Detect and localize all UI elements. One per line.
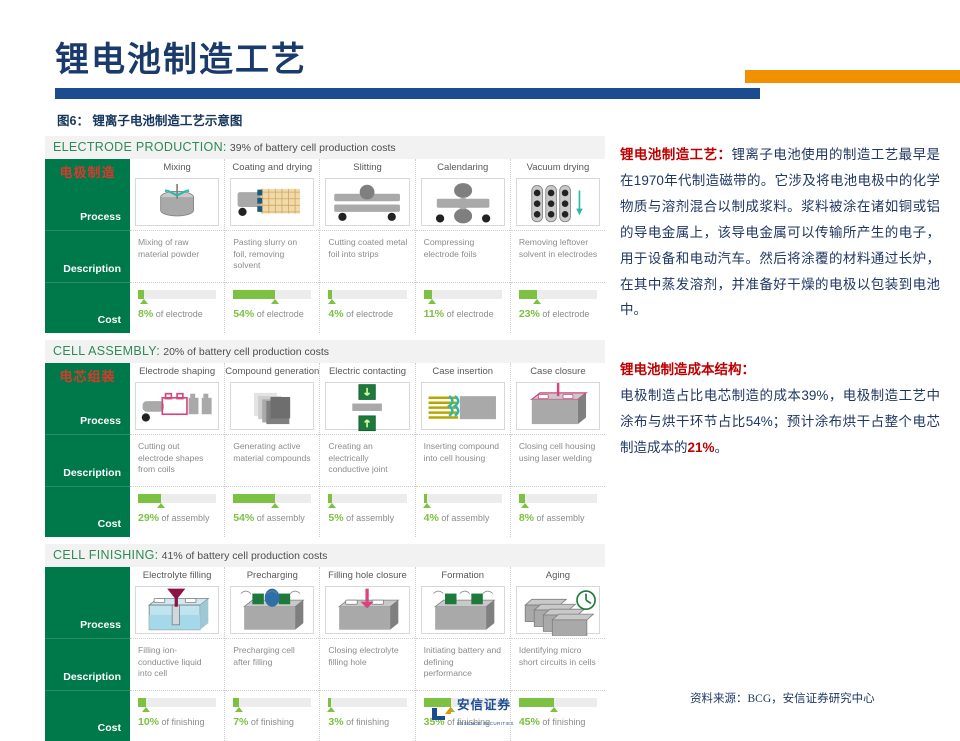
steps-grid: Electrode shaping Cutting out electrode … xyxy=(130,363,605,537)
commentary-paragraph-2: 电极制造占比电芯制造的成本39%，电极制造工艺中涂布与烘干环节占比54%；预计涂… xyxy=(620,383,940,461)
section-cost-note: 39% of battery cell production costs xyxy=(230,142,396,154)
stacked-sheets-icon xyxy=(230,382,314,430)
step-illustration xyxy=(416,176,510,231)
cost-label: 54% of assembly xyxy=(233,512,311,524)
process-diagram: ELECTRODE PRODUCTION: 39% of battery cel… xyxy=(45,136,605,696)
header-orange-rule xyxy=(745,70,960,83)
process-step-column: Coating and drying Pasting slurry on foi… xyxy=(225,159,320,333)
cost-bar xyxy=(233,698,311,707)
section-header: ELECTRODE PRODUCTION: 39% of battery cel… xyxy=(45,136,605,159)
section-cn-stamp: 电芯组装 xyxy=(45,366,130,385)
cost-label: 8% of electrode xyxy=(138,308,216,320)
step-cost: 45% of finishing xyxy=(511,691,605,741)
step-description: Inserting compound into cell housing xyxy=(416,435,510,487)
step-title: Aging xyxy=(511,567,605,584)
commentary-heading-1: 锂电池制造工艺： xyxy=(620,147,731,162)
step-title: Coating and drying xyxy=(225,159,319,176)
section-name: CELL FINISHING: xyxy=(53,548,158,562)
step-illustration xyxy=(416,584,510,639)
step-description: Removing leftover solvent in electrodes xyxy=(511,231,605,283)
cost-bar xyxy=(233,494,311,503)
step-cost: 4% of assembly xyxy=(416,487,510,537)
step-cost: 11% of electrode xyxy=(416,283,510,333)
step-description: Precharging cell after filling xyxy=(225,639,319,691)
source-note: 资料来源：BCG，安信证券研究中心 xyxy=(690,690,875,706)
process-step-column: Electrolyte filling Filling ion-conducti… xyxy=(130,567,225,741)
cost-label: 23% of electrode xyxy=(519,308,597,320)
row-label-process: Process xyxy=(45,567,130,639)
cost-label: 29% of assembly xyxy=(138,512,216,524)
process-step-column: Precharging Precharging cell after filli… xyxy=(225,567,320,741)
row-label-description: Description xyxy=(45,231,130,283)
cost-label: 54% of electrode xyxy=(233,308,311,320)
step-cost: 54% of assembly xyxy=(225,487,319,537)
steps-grid: Mixing Mixing of raw material powder 8% … xyxy=(130,159,605,333)
step-description: Filling ion-conductive liquid into cell xyxy=(130,639,224,691)
step-description: Compressing electrode foils xyxy=(416,231,510,283)
cost-label: 11% of electrode xyxy=(424,308,502,320)
step-description: Mixing of raw material powder xyxy=(130,231,224,283)
calendar-press-icon xyxy=(421,178,505,226)
step-cost: 10% of finishing xyxy=(130,691,224,741)
step-description: Generating active material compounds xyxy=(225,435,319,487)
step-description: Closing cell housing using laser welding xyxy=(511,435,605,487)
cost-bar xyxy=(138,494,216,503)
slitting-machine-icon xyxy=(325,178,409,226)
step-illustration xyxy=(511,380,605,435)
row-label-description: Description xyxy=(45,639,130,691)
cost-label: 5% of assembly xyxy=(328,512,406,524)
step-cost: 8% of assembly xyxy=(511,487,605,537)
cost-bar xyxy=(519,494,597,503)
commentary-spacer xyxy=(620,323,940,357)
figure-caption: 图6： 锂离子电池制造工艺示意图 xyxy=(57,110,242,129)
commentary-paragraph-1: 锂电池制造工艺：锂离子电池使用的制造工艺最早是在1970年代制造磁带的。它涉及将… xyxy=(620,142,940,323)
logo-name-en: ESSENCE SECURITIES xyxy=(457,721,514,726)
step-cost: 4% of electrode xyxy=(320,283,414,333)
step-illustration xyxy=(130,176,224,231)
step-illustration xyxy=(130,380,224,435)
cost-label: 8% of assembly xyxy=(519,512,597,524)
step-title: Compound generation xyxy=(225,363,319,380)
step-description: Pasting slurry on foil, removing solvent xyxy=(225,231,319,283)
step-title: Calendaring xyxy=(416,159,510,176)
process-step-column: Case insertion Inserting compound into c… xyxy=(416,363,511,537)
step-cost: 7% of finishing xyxy=(225,691,319,741)
electric-contact-icon xyxy=(325,382,409,430)
process-step-column: Vacuum drying Removing leftover solvent … xyxy=(511,159,605,333)
section-cost-note: 20% of battery cell production costs xyxy=(163,346,329,358)
process-step-column: Mixing Mixing of raw material powder 8% … xyxy=(130,159,225,333)
step-title: Case insertion xyxy=(416,363,510,380)
step-title: Electrode shaping xyxy=(130,363,224,380)
formation-icon xyxy=(421,586,505,634)
step-cost: 8% of electrode xyxy=(130,283,224,333)
step-description: Closing electrolyte filling hole xyxy=(320,639,414,691)
precharging-icon xyxy=(230,586,314,634)
step-description: Creating an electrically conductive join… xyxy=(320,435,414,487)
row-label-cost: Cost xyxy=(45,691,130,741)
mixer-icon xyxy=(135,178,219,226)
cost-label: 10% of finishing xyxy=(138,716,216,728)
process-step-column: Electric contacting Creating an electric… xyxy=(320,363,415,537)
step-illustration xyxy=(225,176,319,231)
cost-label: 4% of assembly xyxy=(424,512,502,524)
row-label-description: Description xyxy=(45,435,130,487)
vacuum-dryer-icon xyxy=(516,178,600,226)
hole-closure-icon xyxy=(325,586,409,634)
step-title: Electrolyte filling xyxy=(130,567,224,584)
section-name: ELECTRODE PRODUCTION: xyxy=(53,140,227,154)
diagram-section: ELECTRODE PRODUCTION: 39% of battery cel… xyxy=(45,136,605,333)
process-step-column: Electrode shaping Cutting out electrode … xyxy=(130,363,225,537)
section-header: CELL FINISHING: 41% of battery cell prod… xyxy=(45,544,605,567)
cost-bar xyxy=(328,698,406,707)
process-step-column: Aging Identifying micro short circuits i… xyxy=(511,567,605,741)
section-header: CELL ASSEMBLY: 20% of battery cell produ… xyxy=(45,340,605,363)
step-description: Cutting coated metal foil into strips xyxy=(320,231,414,283)
step-cost: 54% of electrode xyxy=(225,283,319,333)
laser-welding-icon xyxy=(516,382,600,430)
step-title: Mixing xyxy=(130,159,224,176)
row-label-cost: Cost xyxy=(45,283,130,333)
commentary-body-1: 锂离子电池使用的制造工艺最早是在1970年代制造磁带的。它涉及将电池电极中的化学… xyxy=(620,147,940,317)
cost-bar xyxy=(233,290,311,299)
electrolyte-filling-icon xyxy=(135,586,219,634)
page-title: 锂电池制造工艺 xyxy=(55,32,307,81)
step-title: Electric contacting xyxy=(320,363,414,380)
step-illustration xyxy=(320,380,414,435)
step-illustration xyxy=(511,176,605,231)
company-logo: 安信证券 ESSENCE SECURITIES xyxy=(432,697,514,729)
cost-label: 7% of finishing xyxy=(233,716,311,728)
process-step-column: Slitting Cutting coated metal foil into … xyxy=(320,159,415,333)
commentary-heading-2: 锂电池制造成本结构： xyxy=(620,362,755,377)
step-title: Formation xyxy=(416,567,510,584)
step-illustration xyxy=(130,584,224,639)
cost-label: 3% of finishing xyxy=(328,716,406,728)
process-step-column: Compound generation Generating active ma… xyxy=(225,363,320,537)
case-insertion-icon xyxy=(421,382,505,430)
coating-roller-icon xyxy=(230,178,314,226)
step-description: Initiating battery and defining performa… xyxy=(416,639,510,691)
step-cost: 5% of assembly xyxy=(320,487,414,537)
commentary-body-2b: 。 xyxy=(715,440,729,455)
header-blue-rule xyxy=(55,88,760,99)
commentary-panel: 锂电池制造工艺：锂离子电池使用的制造工艺最早是在1970年代制造磁带的。它涉及将… xyxy=(620,142,940,461)
step-title: Slitting xyxy=(320,159,414,176)
step-cost: 23% of electrode xyxy=(511,283,605,333)
row-label-cost: Cost xyxy=(45,487,130,537)
step-title: Vacuum drying xyxy=(511,159,605,176)
process-step-column: Filling hole closure Closing electrolyte… xyxy=(320,567,415,741)
cost-label: 4% of electrode xyxy=(328,308,406,320)
process-step-column: Calendaring Compressing electrode foils … xyxy=(416,159,511,333)
cost-bar xyxy=(138,290,216,299)
step-illustration xyxy=(225,380,319,435)
electrode-shaping-icon xyxy=(135,382,219,430)
cost-bar xyxy=(424,290,502,299)
step-title: Case closure xyxy=(511,363,605,380)
steps-grid: Electrolyte filling Filling ion-conducti… xyxy=(130,567,605,741)
commentary-highlight: 21% xyxy=(688,440,715,455)
cost-bar xyxy=(519,290,597,299)
essence-logo-mark xyxy=(432,706,452,721)
step-description: Cutting out electrode shapes from coils xyxy=(130,435,224,487)
step-description: Identifying micro short circuits in cell… xyxy=(511,639,605,691)
step-cost: 3% of finishing xyxy=(320,691,414,741)
cost-bar xyxy=(328,494,406,503)
commentary-body-2a: 电极制造占比电芯制造的成本39%，电极制造工艺中涂布与烘干环节占比54%；预计涂… xyxy=(620,388,940,455)
step-title: Filling hole closure xyxy=(320,567,414,584)
step-title: Precharging xyxy=(225,567,319,584)
section-cn-stamp: 电极制造 xyxy=(45,162,130,181)
step-illustration xyxy=(320,584,414,639)
section-name: CELL ASSEMBLY: xyxy=(53,344,160,358)
step-cost: 29% of assembly xyxy=(130,487,224,537)
step-illustration xyxy=(320,176,414,231)
process-step-column: Case closure Closing cell housing using … xyxy=(511,363,605,537)
aging-icon xyxy=(516,586,600,634)
diagram-section: CELL FINISHING: 41% of battery cell prod… xyxy=(45,544,605,741)
cost-bar xyxy=(519,698,597,707)
logo-name-cn: 安信证券 xyxy=(457,698,511,712)
commentary-heading-2-row: 锂电池制造成本结构： xyxy=(620,357,940,383)
cost-label: 45% of finishing xyxy=(519,716,597,728)
cost-bar xyxy=(138,698,216,707)
row-label-column: 电极制造 Process Description Cost xyxy=(45,159,130,333)
cost-bar xyxy=(424,494,502,503)
section-cost-note: 41% of battery cell production costs xyxy=(162,550,328,562)
cost-bar xyxy=(328,290,406,299)
step-illustration xyxy=(225,584,319,639)
diagram-section: CELL ASSEMBLY: 20% of battery cell produ… xyxy=(45,340,605,537)
row-label-column: 电芯组装 Process Description Cost xyxy=(45,363,130,537)
step-illustration xyxy=(416,380,510,435)
step-illustration xyxy=(511,584,605,639)
row-label-column: Process Description Cost xyxy=(45,567,130,741)
